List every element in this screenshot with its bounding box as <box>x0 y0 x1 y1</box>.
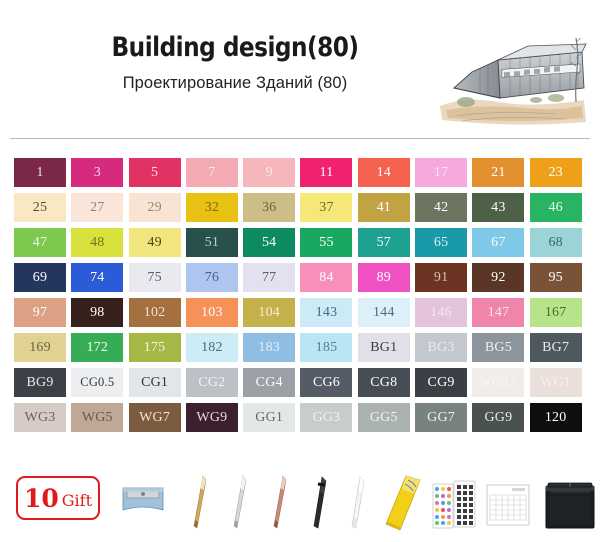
color-swatch[interactable]: 146 <box>415 298 467 327</box>
color-swatch[interactable]: WG5 <box>71 403 123 432</box>
color-swatch[interactable]: GG9 <box>472 403 524 432</box>
color-swatch[interactable]: WG0.5 <box>472 368 524 397</box>
color-swatch[interactable]: 14 <box>358 158 410 187</box>
color-swatch[interactable]: 104 <box>243 298 295 327</box>
color-swatch[interactable]: 23 <box>530 158 582 187</box>
swatch-row: BG9CG0.5CG1CG2CG4CG6CG8CG9WG0.5WG1 <box>14 368 589 397</box>
color-swatch[interactable]: 55 <box>300 228 352 257</box>
color-swatch[interactable]: 185 <box>300 333 352 362</box>
gold-pen-icon <box>190 474 210 532</box>
color-swatch[interactable]: 75 <box>129 263 181 292</box>
color-swatch[interactable]: CG9 <box>415 368 467 397</box>
swatch-row: 9798102103104143144146147167 <box>14 298 589 327</box>
gift-badge: 10 Gift <box>16 476 100 520</box>
color-swatch[interactable]: 1 <box>14 158 66 187</box>
copper-pen-icon <box>270 474 290 532</box>
color-swatch[interactable]: WG9 <box>186 403 238 432</box>
color-swatch[interactable]: 69 <box>14 263 66 292</box>
color-swatch[interactable]: 182 <box>186 333 238 362</box>
color-swatch[interactable]: 172 <box>71 333 123 362</box>
color-swatch[interactable]: 3 <box>71 158 123 187</box>
color-chart-card-icon <box>486 484 530 526</box>
color-swatch[interactable]: 43 <box>472 193 524 222</box>
color-swatch[interactable]: WG7 <box>129 403 181 432</box>
color-swatch[interactable]: 48 <box>71 228 123 257</box>
color-swatch[interactable]: 54 <box>243 228 295 257</box>
black-fineliner-icon <box>310 474 330 532</box>
color-swatch-grid: 1357911141721232527293236374142434647484… <box>14 158 589 438</box>
color-swatch[interactable]: 91 <box>415 263 467 292</box>
color-swatch[interactable]: 97 <box>14 298 66 327</box>
color-swatch[interactable]: BG3 <box>415 333 467 362</box>
swatch-row: 25272932363741424346 <box>14 193 589 222</box>
color-swatch[interactable]: 67 <box>472 228 524 257</box>
color-swatch[interactable]: 9 <box>243 158 295 187</box>
gift-accessories-row: 10 Gift <box>8 470 594 538</box>
color-swatch[interactable]: 46 <box>530 193 582 222</box>
color-swatch[interactable]: 57 <box>358 228 410 257</box>
color-swatch[interactable]: 42 <box>415 193 467 222</box>
color-swatch[interactable]: BG1 <box>358 333 410 362</box>
swatch-row: 47484951545557656768 <box>14 228 589 257</box>
color-swatch[interactable]: BG9 <box>14 368 66 397</box>
color-swatch[interactable]: 68 <box>530 228 582 257</box>
color-swatch[interactable]: 5 <box>129 158 181 187</box>
color-swatch[interactable]: WG1 <box>530 368 582 397</box>
building-sketch-illustration <box>436 36 588 128</box>
color-swatch[interactable]: 27 <box>71 193 123 222</box>
color-swatch[interactable]: BG5 <box>472 333 524 362</box>
color-swatch[interactable]: 47 <box>14 228 66 257</box>
color-swatch[interactable]: GG7 <box>415 403 467 432</box>
color-swatch[interactable]: 167 <box>530 298 582 327</box>
color-swatch[interactable]: GG1 <box>243 403 295 432</box>
color-swatch[interactable]: 103 <box>186 298 238 327</box>
swatch-row: WG3WG5WG7WG9GG1GG3GG5GG7GG9120 <box>14 403 589 432</box>
header-divider <box>10 138 590 139</box>
yellow-pen-case-icon <box>380 474 426 532</box>
white-gel-pen-icon <box>348 474 368 532</box>
color-swatch[interactable]: CG2 <box>186 368 238 397</box>
color-swatch[interactable]: 41 <box>358 193 410 222</box>
color-swatch[interactable]: 36 <box>243 193 295 222</box>
color-swatch[interactable]: CG0.5 <box>71 368 123 397</box>
color-swatch[interactable]: 92 <box>472 263 524 292</box>
color-swatch[interactable]: CG1 <box>129 368 181 397</box>
gift-label: Gift <box>59 488 92 509</box>
color-swatch[interactable]: 74 <box>71 263 123 292</box>
color-swatch[interactable]: 29 <box>129 193 181 222</box>
color-swatch[interactable]: 37 <box>300 193 352 222</box>
color-swatch[interactable]: GG3 <box>300 403 352 432</box>
color-swatch[interactable]: 143 <box>300 298 352 327</box>
color-swatch[interactable]: 84 <box>300 263 352 292</box>
color-swatch[interactable]: 21 <box>472 158 524 187</box>
color-swatch[interactable]: 7 <box>186 158 238 187</box>
swatch-row: 169172175182183185BG1BG3BG5BG7 <box>14 333 589 362</box>
color-swatch[interactable]: CG8 <box>358 368 410 397</box>
color-swatch[interactable]: 77 <box>243 263 295 292</box>
color-swatch[interactable]: 49 <box>129 228 181 257</box>
color-swatch[interactable]: 11 <box>300 158 352 187</box>
color-swatch[interactable]: BG7 <box>530 333 582 362</box>
color-swatch[interactable]: 175 <box>129 333 181 362</box>
color-swatch[interactable]: 147 <box>472 298 524 327</box>
color-swatch[interactable]: 169 <box>14 333 66 362</box>
color-swatch[interactable]: 102 <box>129 298 181 327</box>
color-swatch[interactable]: 183 <box>243 333 295 362</box>
color-swatch[interactable]: 120 <box>530 403 582 432</box>
color-swatch[interactable]: 95 <box>530 263 582 292</box>
header: Building design(80) Проектирование Здани… <box>0 0 600 128</box>
color-swatch[interactable]: 17 <box>415 158 467 187</box>
color-swatch[interactable]: 65 <box>415 228 467 257</box>
color-swatch[interactable]: 51 <box>186 228 238 257</box>
page-title: Building design(80) <box>33 34 437 62</box>
color-swatch[interactable]: 32 <box>186 193 238 222</box>
silver-pen-icon <box>230 474 250 532</box>
black-carry-bag-icon <box>544 480 596 530</box>
color-swatch[interactable]: 89 <box>358 263 410 292</box>
sticker-sheets-icon <box>432 480 476 530</box>
color-swatch[interactable]: 76 <box>186 263 238 292</box>
page-subtitle: Проектирование Зданий (80) <box>0 62 470 93</box>
gift-count: 10 <box>24 486 59 511</box>
marker-set-product-image: Building design(80) Проектирование Здани… <box>0 0 600 542</box>
color-swatch[interactable]: 144 <box>358 298 410 327</box>
pencil-sharpener-icon <box>120 484 166 518</box>
color-swatch[interactable]: 25 <box>14 193 66 222</box>
color-swatch[interactable]: GG5 <box>358 403 410 432</box>
color-swatch[interactable]: 98 <box>71 298 123 327</box>
swatch-row: 135791114172123 <box>14 158 589 187</box>
color-swatch[interactable]: CG4 <box>243 368 295 397</box>
color-swatch[interactable]: CG6 <box>300 368 352 397</box>
header-text-block: Building design(80) Проектирование Здани… <box>0 34 470 93</box>
swatch-row: 69747576778489919295 <box>14 263 589 292</box>
color-swatch[interactable]: WG3 <box>14 403 66 432</box>
